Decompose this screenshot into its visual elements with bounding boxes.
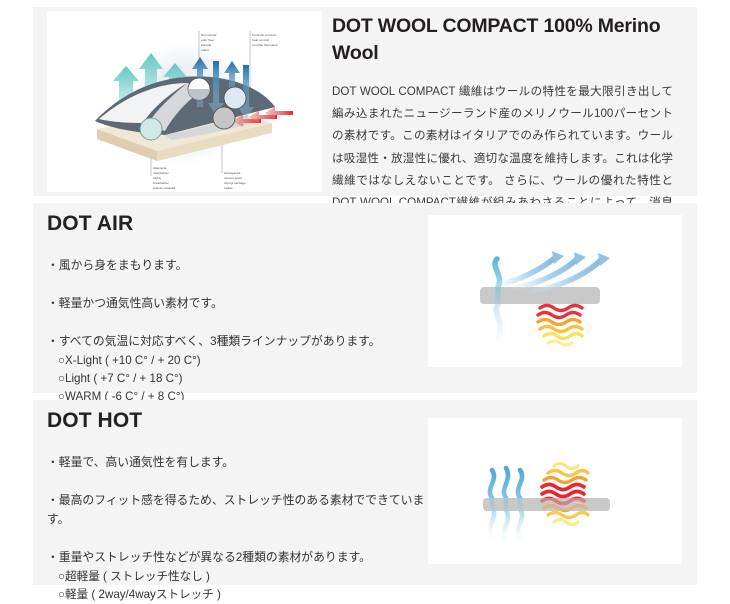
list-item-text: ・重量やストレッチ性などが異なる2種類の素材があります。 (47, 550, 371, 564)
hero-text-block: DOT WOOL COMPACT 100% Merino Wool DOT WO… (322, 7, 697, 196)
list-item-text: ・軽量かつ通気性高い素材です。 (47, 296, 223, 310)
section-dot-hot: DOT HOT ・軽量で、高い通気性を有します。 ・最高のフィット感を得るため、… (33, 400, 697, 585)
variant-option: ○X-Light ( +10 C° / + 20 C°) (58, 352, 428, 370)
wool-compact-diagram: Non odora/ odor free/ aucuna odeur Contr… (47, 11, 322, 192)
svg-text:Altamente: Altamente (153, 166, 167, 170)
svg-text:Controllo termico/: Controllo termico/ (252, 33, 276, 37)
dot-air-feature-list: ・風から身をまもります。 ・軽量かつ通気性高い素材です。 ・すべての気温に対応す… (47, 256, 428, 407)
list-item: ・軽量で、高い通気性を有します。 (47, 453, 428, 472)
svg-text:drying/ séchage: drying/ séchage (224, 181, 246, 185)
dot-air-variant-list: ○X-Light ( +10 C° / + 20 C°) ○Light ( +7… (47, 352, 428, 407)
dot-hot-feature-list: ・軽量で、高い通気性を有します。 ・最高のフィット感を得るため、ストレッチ性のあ… (47, 453, 428, 604)
svg-text:veloce/ quick: veloce/ quick (224, 176, 242, 180)
fabric-bar-overlay (483, 498, 610, 511)
wool-compact-diagram-svg: Non odora/ odor free/ aucuna odeur Contr… (47, 11, 322, 192)
dot-hot-text-block: DOT HOT ・軽量で、高い通気性を有します。 ・最高のフィット感を得るため、… (33, 400, 428, 585)
svg-text:traspirante/: traspirante/ (153, 171, 169, 175)
svg-text:grande capacità: grande capacità (153, 186, 175, 190)
variant-option: ○Light ( +7 C° / + 18 C°) (58, 370, 428, 388)
section-dot-air: DOT AIR ・風から身をまもります。 ・軽量かつ通気性高い素材です。 ・すべ… (33, 203, 697, 393)
list-item: ・重量やストレッチ性などが異なる2種類の素材があります。 ○超軽量 ( ストレッ… (47, 548, 428, 604)
list-item: ・風から身をまもります。 (47, 256, 428, 275)
list-item: ・軽量かつ通気性高い素材です。 (47, 294, 428, 313)
variant-option: ○超軽量 ( ストレッチ性なし ) (58, 568, 428, 586)
dot-hot-illustration (428, 418, 682, 564)
hero-section: Non odora/ odor free/ aucuna odeur Contr… (33, 7, 697, 196)
dot-air-illustration (428, 215, 682, 367)
list-item: ・すべての気温に対応すべく、3種類ラインナップがあります。 ○X-Light (… (47, 332, 428, 407)
dot-hot-illustration-svg (428, 418, 682, 564)
dot-hot-variant-list: ○超軽量 ( ストレッチ性なし ) ○軽量 ( 2way/4wayストレッチ ) (47, 568, 428, 604)
svg-text:aucuna: aucuna (201, 43, 211, 47)
list-item-text: ・軽量で、高い通気性を有します。 (47, 455, 234, 469)
svg-text:contrôle thermique: contrôle thermique (252, 43, 278, 47)
svg-text:odor free/: odor free/ (201, 38, 214, 42)
dot-air-illustration-svg (428, 215, 682, 367)
list-item-text: ・最高のフィット感を得るため、ストレッチ性のある素材でできています。 (47, 493, 424, 526)
dot-hot-title: DOT HOT (47, 409, 428, 433)
list-item-text: ・風から身をまもります。 (47, 258, 187, 272)
product-info-page: Non odora/ odor free/ aucuna odeur Contr… (0, 0, 730, 602)
svg-text:rapide: rapide (224, 186, 233, 190)
list-item: ・最高のフィット感を得るため、ストレッチ性のある素材でできています。 (47, 491, 428, 529)
list-item-text: ・すべての気温に対応すべく、3種類ラインナップがあります。 (47, 334, 381, 348)
svg-text:Asciugatura: Asciugatura (224, 171, 241, 175)
svg-text:breathable/: breathable/ (153, 181, 169, 185)
dot-air-title: DOT AIR (47, 212, 428, 236)
svg-text:highly: highly (153, 176, 162, 180)
svg-text:Non odora/: Non odora/ (201, 33, 216, 37)
svg-text:odeur: odeur (201, 48, 209, 52)
svg-text:heat control/: heat control/ (252, 38, 269, 42)
dot-air-text-block: DOT AIR ・風から身をまもります。 ・軽量かつ通気性高い素材です。 ・すべ… (33, 203, 428, 393)
variant-option: ○軽量 ( 2way/4wayストレッチ ) (58, 586, 428, 604)
hero-title: DOT WOOL COMPACT 100% Merino Wool (332, 13, 673, 67)
